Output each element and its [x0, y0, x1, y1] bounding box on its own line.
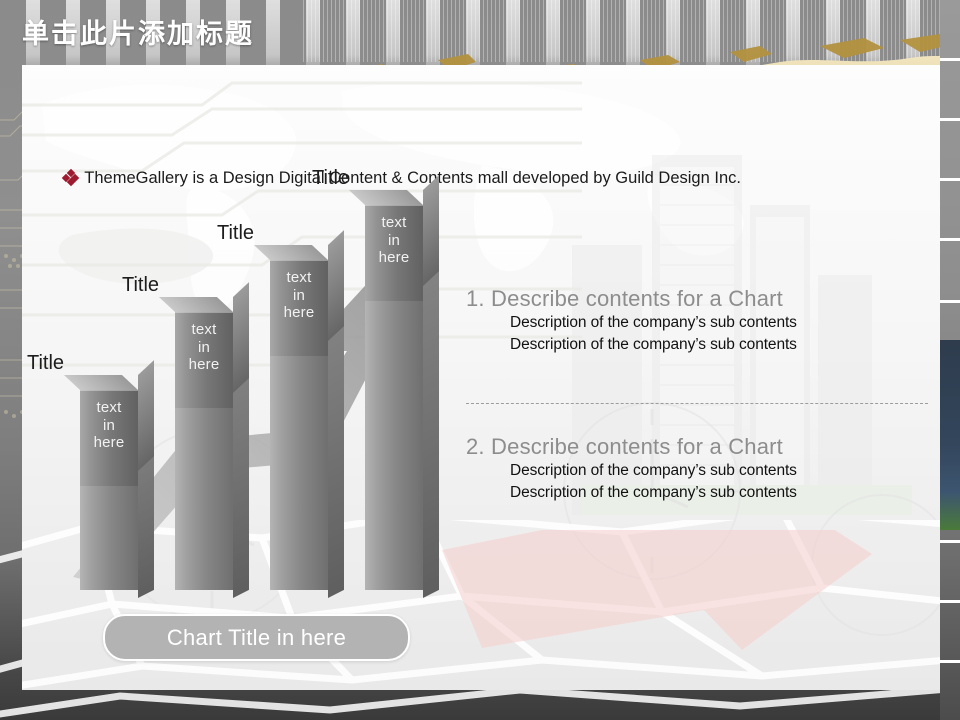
pink-arrow-decoration	[442, 530, 872, 690]
section-divider	[466, 403, 928, 404]
bar-title: Title	[122, 274, 159, 297]
bar-label: text in here	[365, 205, 423, 267]
content-block-heading: 1. Describe contents for a Chart	[466, 286, 936, 312]
content-block-heading: 2. Describe contents for a Chart	[466, 434, 936, 460]
content-block-line: Description of the company’s sub content…	[466, 460, 936, 482]
bar-label: text in here	[80, 390, 138, 452]
bar-chart: text in here Title text in here Title	[55, 225, 475, 625]
chart-bar: text in here Title	[270, 260, 328, 590]
chart-title-pill[interactable]: Chart Title in here	[103, 614, 410, 661]
intro-text: ThemeGallery is a Design Digital Content…	[84, 169, 741, 187]
content-block-line: Description of the company’s sub content…	[466, 334, 936, 356]
chart-bar: text in here Title	[175, 312, 233, 590]
content-block-2: 2. Describe contents for a Chart Descrip…	[466, 434, 936, 504]
content-block-1: 1. Describe contents for a Chart Descrip…	[466, 286, 936, 356]
bar-head: text in here	[270, 260, 328, 356]
content-block-line: Description of the company’s sub content…	[466, 312, 936, 334]
content-block-line: Description of the company’s sub content…	[466, 482, 936, 504]
chart-bar: text in here Title	[80, 390, 138, 590]
right-edge-rail	[940, 0, 960, 720]
diamond-bullet-icon	[64, 167, 80, 193]
bar-head: text in here	[175, 312, 233, 408]
bar-head: text in here	[80, 390, 138, 486]
bar-title: Title	[312, 167, 349, 190]
slide-canvas: 单击此片添加标题	[0, 0, 960, 720]
page-title: 单击此片添加标题	[22, 12, 254, 51]
chart-title-text: Chart Title in here	[167, 625, 346, 651]
bar-title: Title	[217, 222, 254, 245]
chart-bar: text in here Title	[365, 205, 423, 590]
bar-title: Title	[27, 352, 64, 375]
rail-building-photo	[940, 340, 960, 530]
bar-label: text in here	[270, 260, 328, 322]
bar-label: text in here	[175, 312, 233, 374]
bar-head: text in here	[365, 205, 423, 301]
